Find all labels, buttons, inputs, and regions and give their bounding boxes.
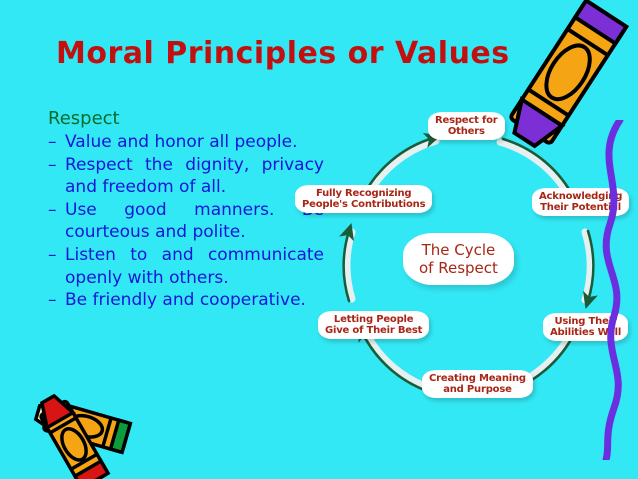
list-item-text: Be friendly and cooperative.	[65, 289, 324, 312]
crayons-bottom-left-icon	[2, 372, 142, 479]
cycle-node-line1: Letting People	[325, 314, 422, 325]
cycle-node-line2: People's Contributions	[302, 199, 425, 210]
cycle-node-fully-recognizing-peoples-contributions[interactable]: Fully Recognizing People's Contributions	[295, 185, 432, 213]
list-item: – Value and honor all people.	[48, 131, 324, 154]
list-item: – Be friendly and cooperative.	[48, 289, 324, 312]
cycle-node-creating-meaning-and-purpose[interactable]: Creating Meaning and Purpose	[422, 370, 533, 398]
content-text-block: Respect – Value and honor all people. – …	[48, 107, 324, 312]
purple-squiggle-decoration	[580, 120, 638, 460]
cycle-node-line2: Others	[435, 126, 498, 137]
slide-canvas: Moral Principles or Values Respect – Val…	[0, 0, 638, 479]
respect-heading: Respect	[48, 107, 324, 130]
list-item-text: Listen to and communicate openly with ot…	[65, 244, 324, 289]
cycle-node-line1: Creating Meaning	[429, 373, 526, 384]
bullet-marker-icon: –	[48, 289, 65, 312]
bullet-marker-icon: –	[48, 199, 65, 222]
cycle-center-line2: of Respect	[419, 259, 498, 277]
page-title: Moral Principles or Values	[56, 36, 510, 71]
list-item: – Use good manners. Be courteous and pol…	[48, 199, 324, 244]
cycle-node-line2: and Purpose	[429, 384, 526, 395]
cycle-node-line1: Respect for	[435, 115, 498, 126]
cycle-center-label: The Cycle of Respect	[403, 233, 514, 285]
list-item-text: Value and honor all people.	[65, 131, 324, 154]
bullet-marker-icon: –	[48, 154, 65, 177]
cycle-center-line1: The Cycle	[419, 241, 498, 259]
cycle-node-respect-for-others[interactable]: Respect for Others	[428, 112, 505, 140]
bullet-marker-icon: –	[48, 131, 65, 154]
list-item: – Listen to and communicate openly with …	[48, 244, 324, 289]
cycle-node-line1: Fully Recognizing	[302, 188, 425, 199]
list-item: – Respect the dignity, privacy and freed…	[48, 154, 324, 199]
crayon-top-right-icon	[496, 0, 638, 156]
cycle-node-letting-people-give-of-their-best[interactable]: Letting People Give of Their Best	[318, 311, 429, 339]
bullet-marker-icon: –	[48, 244, 65, 267]
list-item-text: Respect the dignity, privacy and freedom…	[65, 154, 324, 199]
list-item-text: Use good manners. Be courteous and polit…	[65, 199, 324, 244]
cycle-node-line2: Give of Their Best	[325, 325, 422, 336]
